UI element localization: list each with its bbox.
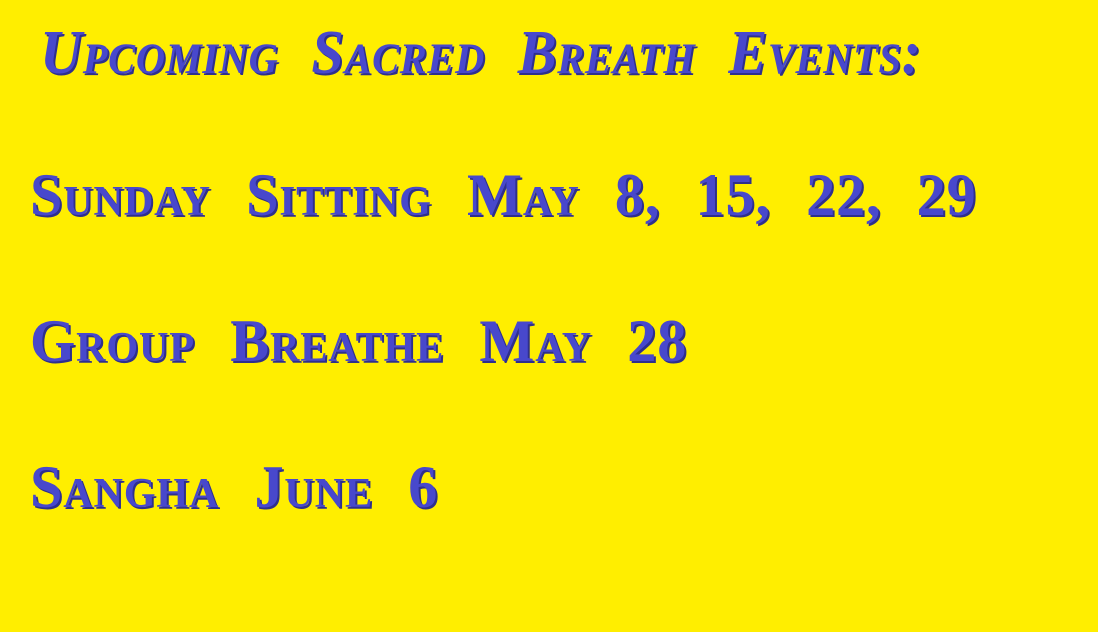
event-poster: Upcoming Sacred Breath Events: Sunday Si… bbox=[0, 0, 1098, 632]
list-item: Group Breathe May 28 bbox=[30, 312, 1039, 458]
page-title: Upcoming Sacred Breath Events: bbox=[40, 22, 922, 84]
list-item: Sangha June 6 bbox=[30, 458, 1039, 604]
list-item: Sunday Sitting May 8, 15, 22, 29 bbox=[30, 166, 1039, 312]
event-list: Sunday Sitting May 8, 15, 22, 29 Group B… bbox=[30, 166, 1070, 604]
